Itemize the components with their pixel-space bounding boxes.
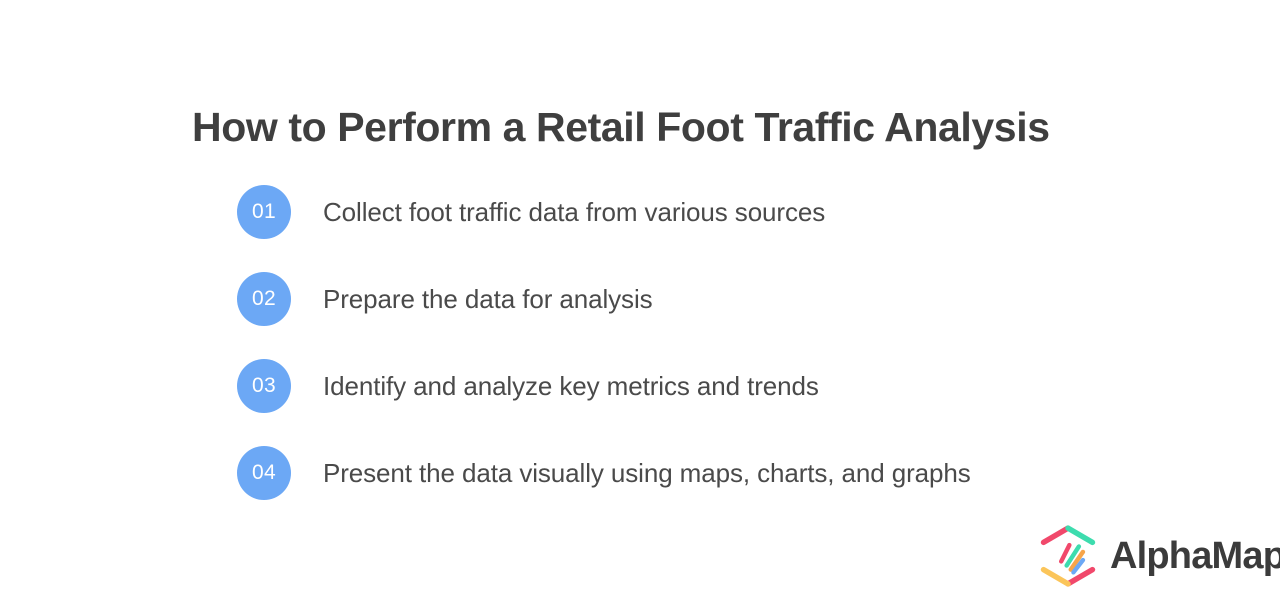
step-text: Prepare the data for analysis: [323, 284, 653, 315]
list-item: 02 Prepare the data for analysis: [237, 272, 1137, 326]
step-number-label: 04: [252, 461, 276, 485]
step-text: Present the data visually using maps, ch…: [323, 458, 971, 489]
step-text: Identify and analyze key metrics and tre…: [323, 371, 819, 402]
list-item: 04 Present the data visually using maps,…: [237, 446, 1137, 500]
step-number-label: 02: [252, 287, 276, 311]
list-item: 03 Identify and analyze key metrics and …: [237, 359, 1137, 413]
steps-list: 01 Collect foot traffic data from variou…: [237, 185, 1137, 500]
step-number-label: 03: [252, 374, 276, 398]
step-number-badge: 04: [237, 446, 291, 500]
step-number-label: 01: [252, 200, 276, 224]
step-number-badge: 03: [237, 359, 291, 413]
brand-logo: AlphaMap: [1034, 522, 1280, 590]
step-text: Collect foot traffic data from various s…: [323, 197, 825, 228]
step-number-badge: 02: [237, 272, 291, 326]
list-item: 01 Collect foot traffic data from variou…: [237, 185, 1137, 239]
step-number-badge: 01: [237, 185, 291, 239]
brand-wordmark: AlphaMap: [1110, 537, 1280, 575]
alphamap-hexagon-icon: [1034, 522, 1102, 590]
page-title: How to Perform a Retail Foot Traffic Ana…: [192, 103, 1050, 152]
slide-canvas: How to Perform a Retail Foot Traffic Ana…: [0, 0, 1280, 606]
